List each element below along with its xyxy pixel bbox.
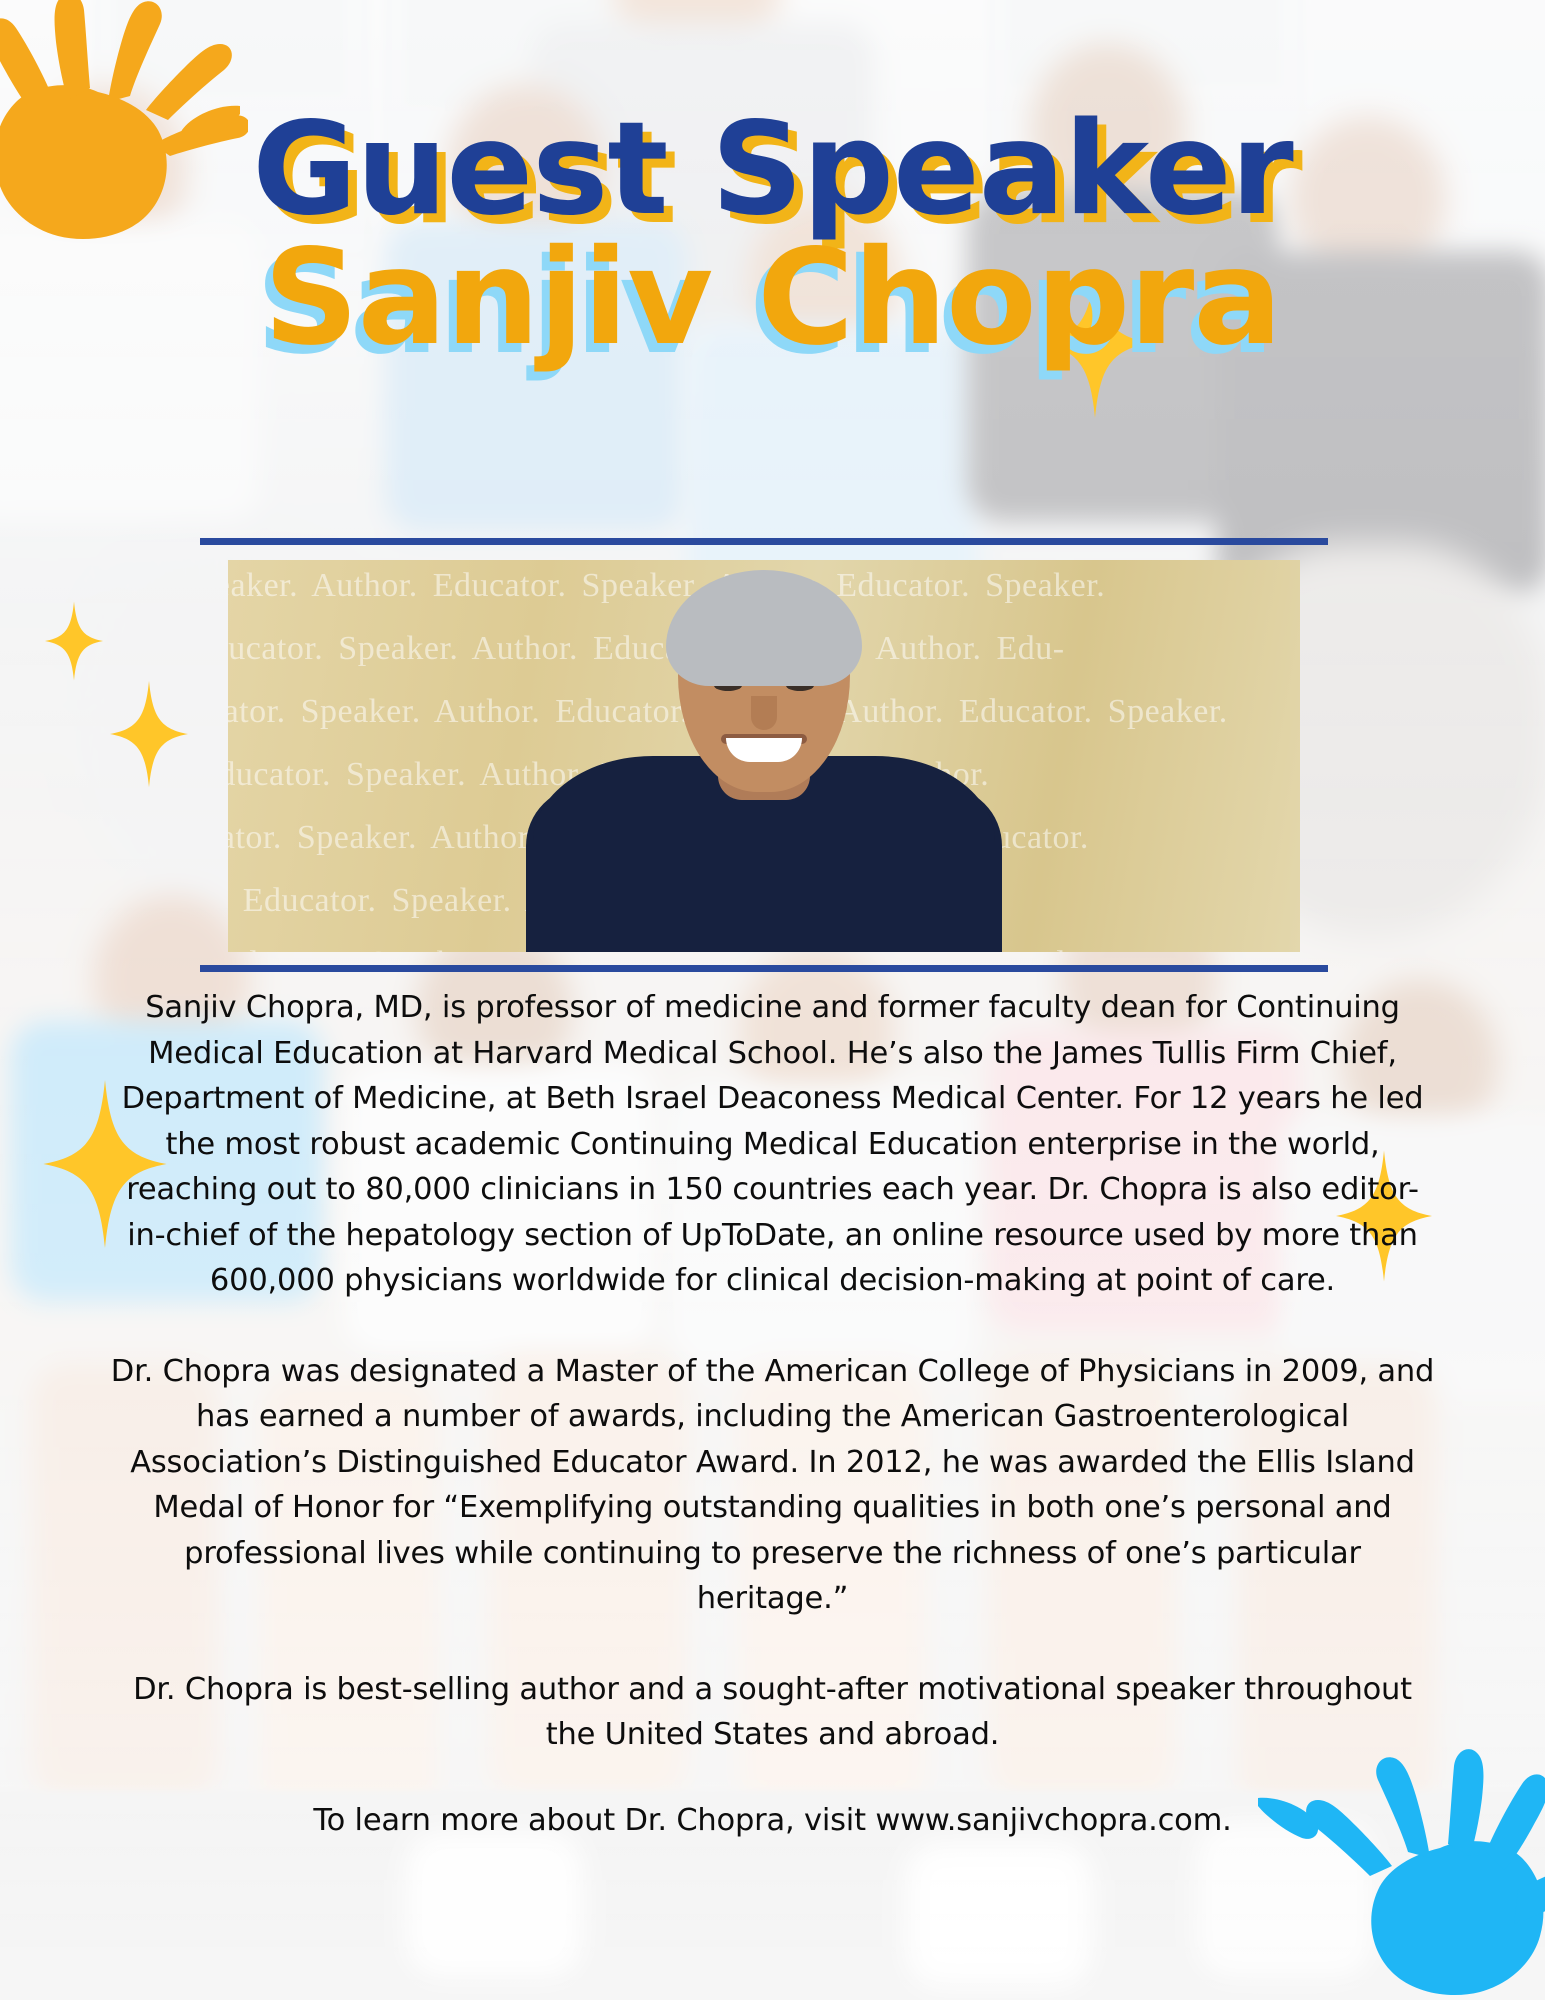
speaker-portrait: [228, 560, 1300, 952]
title-block: Guest Speaker Sanjiv Chopra: [0, 112, 1545, 362]
page-title-line2: Sanjiv Chopra: [0, 234, 1545, 362]
website-line: To learn more about Dr. Chopra, visit ww…: [110, 1798, 1435, 1844]
divider-top: [200, 538, 1328, 545]
bio-paragraph-1: Sanjiv Chopra, MD, is professor of medic…: [110, 985, 1435, 1304]
biography-text: Sanjiv Chopra, MD, is professor of medic…: [110, 985, 1435, 1843]
speaker-flyer: Guest Speaker Sanjiv Chopra Speaker. Aut…: [0, 0, 1545, 2000]
page-title-line1: Guest Speaker: [0, 112, 1545, 228]
speaker-photo: Speaker. Author. Educator. Speaker. Auth…: [228, 560, 1300, 952]
bio-paragraph-3: Dr. Chopra is best-selling author and a …: [110, 1667, 1435, 1758]
bio-paragraph-2: Dr. Chopra was designated a Master of th…: [110, 1349, 1435, 1622]
divider-bottom: [200, 965, 1328, 972]
